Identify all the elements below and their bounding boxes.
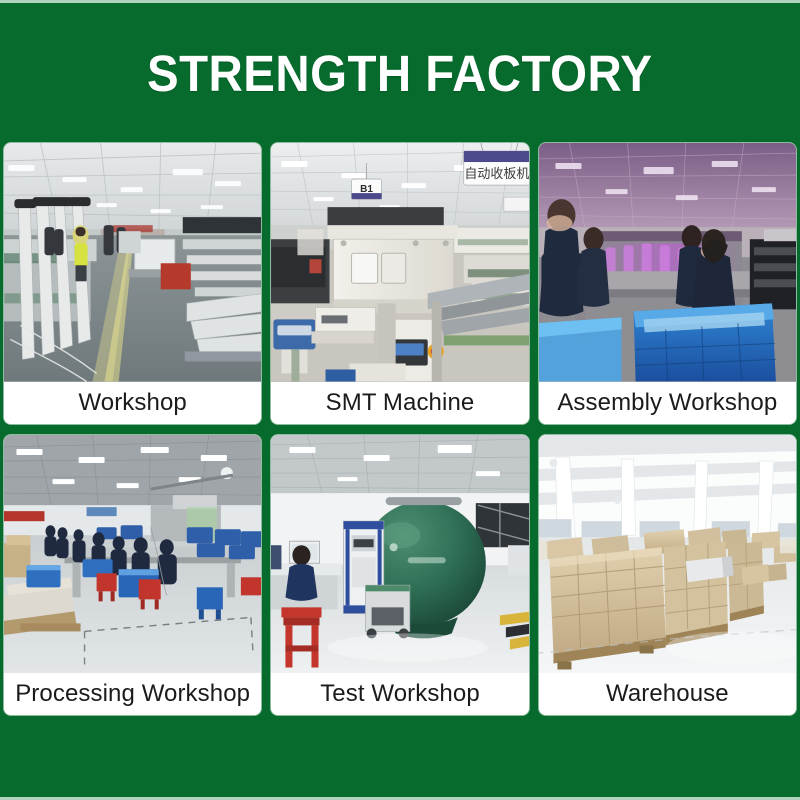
gallery-card-smt-machine[interactable]: B1 自动收板机 bbox=[271, 143, 528, 424]
photo-warehouse bbox=[539, 435, 796, 674]
photo-smt-machine-art: B1 自动收板机 bbox=[271, 143, 528, 382]
factory-gallery-page: STRENGTH FACTORY bbox=[0, 0, 800, 800]
photo-assembly-workshop-art bbox=[539, 143, 796, 382]
gallery-card-workshop[interactable]: Workshop bbox=[4, 143, 261, 424]
photo-processing-workshop-art bbox=[4, 435, 261, 674]
caption-assembly-workshop: Assembly Workshop bbox=[539, 382, 796, 424]
photo-test-workshop bbox=[271, 435, 528, 674]
svg-text:B1: B1 bbox=[361, 184, 374, 195]
photo-warehouse-art bbox=[539, 435, 796, 674]
caption-test-workshop: Test Workshop bbox=[271, 673, 528, 715]
svg-text:自动收板机: 自动收板机 bbox=[465, 166, 529, 181]
banner: STRENGTH FACTORY bbox=[0, 3, 800, 143]
photo-smt-machine: B1 自动收板机 bbox=[271, 143, 528, 382]
page-title: STRENGTH FACTORY bbox=[147, 44, 652, 103]
gallery-card-processing-workshop[interactable]: Processing Workshop bbox=[4, 435, 261, 716]
caption-workshop: Workshop bbox=[4, 382, 261, 424]
photo-assembly-workshop bbox=[539, 143, 796, 382]
photo-workshop bbox=[4, 143, 261, 382]
gallery-card-test-workshop[interactable]: Test Workshop bbox=[271, 435, 528, 716]
photo-test-workshop-art bbox=[271, 435, 528, 674]
caption-processing-workshop: Processing Workshop bbox=[4, 673, 261, 715]
caption-smt-machine: SMT Machine bbox=[271, 382, 528, 424]
gallery-grid: Workshop bbox=[0, 143, 800, 800]
photo-workshop-art bbox=[4, 143, 261, 382]
photo-processing-workshop bbox=[4, 435, 261, 674]
gallery-card-warehouse[interactable]: Warehouse bbox=[539, 435, 796, 716]
caption-warehouse: Warehouse bbox=[539, 673, 796, 715]
gallery-card-assembly-workshop[interactable]: Assembly Workshop bbox=[539, 143, 796, 424]
top-divider bbox=[0, 0, 800, 3]
